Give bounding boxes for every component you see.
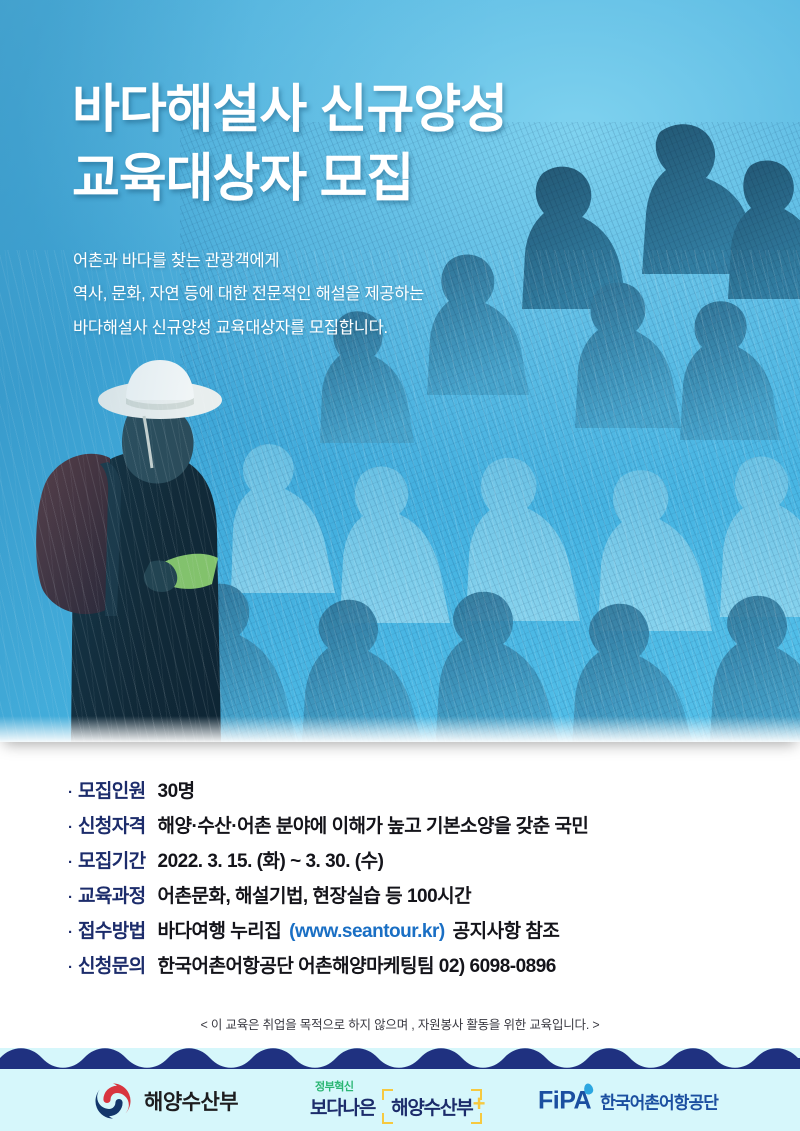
logo-ministry-oceans-fisheries: 해양수산부 [93,1081,238,1121]
seantour-url-link[interactable]: (www.seantour.kr) [289,921,445,942]
innovation-ministry-label: 해양수산부 [391,1098,472,1119]
hero-banner: 바다해설사 신규양성 교육대상자 모집 어촌과 바다를 찾는 관광객에게 역사,… [0,0,800,742]
info-value: 30명 [158,776,195,803]
bullet-icon: · [68,890,73,905]
innovation-main-lockup: 보다나은 해양수산부 + [310,1093,482,1120]
title-line-2: 교육대상자 모집 [72,145,712,214]
innovation-bracket-wrap: 해양수산부 [382,1093,481,1120]
ministry-name-label: 해양수산부 [144,1086,238,1116]
fipa-mark-label: FiPA [538,1086,591,1114]
fipa-wordmark: FiPA [538,1086,591,1115]
footer-logo-row: 해양수산부 정부혁신 보다나은 해양수산부 + [0,1070,800,1131]
info-row-application-method: · 접수방법 바다여행 누리집(www.seantour.kr)공지사항 참조 [0,916,800,951]
innovation-prefix-label: 보다나은 [310,1093,375,1120]
info-list: · 모집인원 30명 · 신청자격 해양·수산·어촌 분야에 이해가 높고 기본… [0,776,800,986]
bullet-icon: · [68,820,73,835]
guide-figure-photo [10,312,310,742]
poster-subtitle: 어촌과 바다를 찾는 관광객에게 역사, 문화, 자연 등에 대한 전문적인 해… [73,245,693,345]
info-label: 신청문의 [78,951,146,978]
bullet-icon: · [68,960,73,975]
info-value: 해양·수산·어촌 분야에 이해가 높고 기본소양을 갖춘 국민 [158,811,589,838]
footnote-disclaimer: < 이 교육은 취업을 목적으로 하지 않으며 , 자원봉사 활동을 위한 교육… [0,1014,800,1033]
poster-title: 바다해설사 신규양성 교육대상자 모집 [72,76,712,214]
info-label: 접수방법 [78,916,146,943]
taegeuk-icon [93,1081,133,1121]
wave-scallop-divider [0,1047,800,1069]
info-label: 신청자격 [78,811,146,838]
info-label: 모집인원 [78,776,146,803]
water-drop-icon [583,1082,594,1095]
bullet-icon: · [68,925,73,940]
plus-icon: + [473,1093,486,1115]
innovation-tagline: 정부혁신 [315,1078,353,1094]
info-row-recruit-count: · 모집인원 30명 [0,776,800,811]
bracket-bottom-left-icon [382,1113,393,1124]
info-value: 어촌문화, 해설기법, 현장실습 등 100시간 [158,881,472,908]
fipa-name-label: 한국어촌어항공단 [600,1088,718,1113]
info-label: 모집기간 [78,846,146,873]
logo-fipa: FiPA 한국어촌어항공단 [538,1086,718,1115]
info-row-period: · 모집기간 2022. 3. 15. (화) ~ 3. 30. (수) [0,846,800,881]
bullet-icon: · [68,855,73,870]
title-line-1: 바다해설사 신규양성 [72,76,712,145]
apply-text-post: 공지사항 참조 [453,921,560,942]
logo-government-innovation: 정부혁신 보다나은 해양수산부 + [310,1078,495,1124]
info-value: 바다여행 누리집(www.seantour.kr)공지사항 참조 [158,916,560,943]
poster-root: 바다해설사 신규양성 교육대상자 모집 어촌과 바다를 찾는 관광객에게 역사,… [0,0,800,1131]
bullet-icon: · [68,785,73,800]
subtitle-line-2: 역사, 문화, 자연 등에 대한 전문적인 해설을 제공하는 [73,278,693,311]
info-row-curriculum: · 교육과정 어촌문화, 해설기법, 현장실습 등 100시간 [0,881,800,916]
info-row-eligibility: · 신청자격 해양·수산·어촌 분야에 이해가 높고 기본소양을 갖춘 국민 [0,811,800,846]
apply-text-pre: 바다여행 누리집 [158,921,282,942]
bracket-top-left-icon [382,1089,393,1100]
info-value: 2022. 3. 15. (화) ~ 3. 30. (수) [158,846,384,873]
footer-bar: 해양수산부 정부혁신 보다나은 해양수산부 + [0,1048,800,1131]
subtitle-line-1: 어촌과 바다를 찾는 관광객에게 [73,245,693,278]
info-label: 교육과정 [78,881,146,908]
info-value: 한국어촌어항공단 어촌해양마케팅팀 02) 6098-0896 [158,951,556,978]
subtitle-line-3: 바다해설사 신규양성 교육대상자를 모집합니다. [73,312,693,345]
info-row-contact: · 신청문의 한국어촌어항공단 어촌해양마케팅팀 02) 6098-0896 [0,951,800,986]
